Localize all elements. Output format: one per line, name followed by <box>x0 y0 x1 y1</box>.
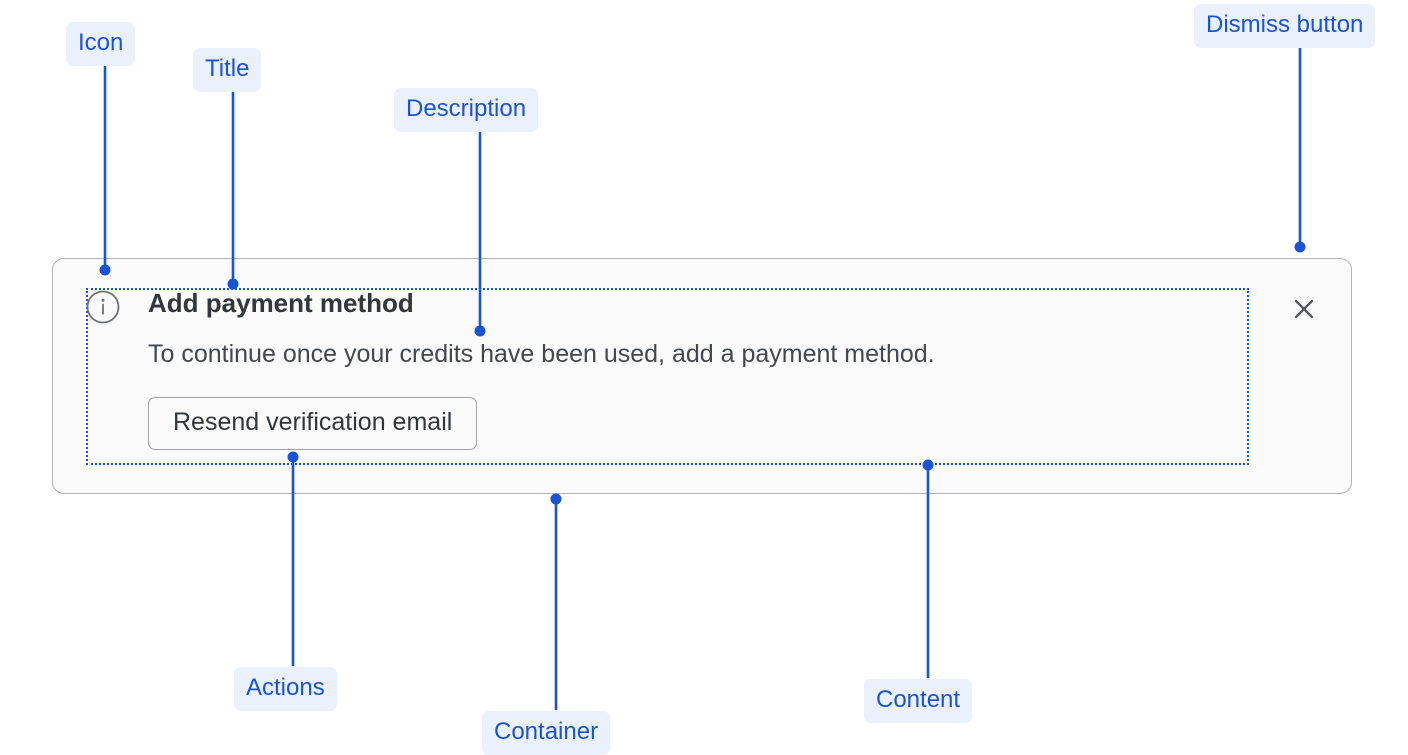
alert-title: Add payment method <box>148 289 1249 319</box>
close-icon <box>1290 295 1318 326</box>
alert-content: Add payment method To continue once your… <box>86 288 1249 465</box>
annotation-label-icon: Icon <box>66 22 135 66</box>
info-circle-icon <box>86 290 120 324</box>
alert-actions: Resend verification email <box>148 397 1249 450</box>
annotation-label-container: Container <box>482 711 610 755</box>
annotation-label-content: Content <box>864 679 972 723</box>
alert-body: Add payment method To continue once your… <box>148 288 1249 450</box>
annotation-label-description: Description <box>394 88 538 132</box>
resend-verification-email-button[interactable]: Resend verification email <box>148 397 477 450</box>
annotation-label-dismiss-button: Dismiss button <box>1194 4 1375 48</box>
alert-container: Add payment method To continue once your… <box>52 258 1352 494</box>
dismiss-button[interactable] <box>1287 293 1321 327</box>
annotation-label-title: Title <box>193 48 261 92</box>
annotation-label-actions: Actions <box>234 667 337 711</box>
alert-description: To continue once your credits have been … <box>148 339 1249 369</box>
annotated-alert-anatomy-diagram: Add payment method To continue once your… <box>0 0 1408 748</box>
